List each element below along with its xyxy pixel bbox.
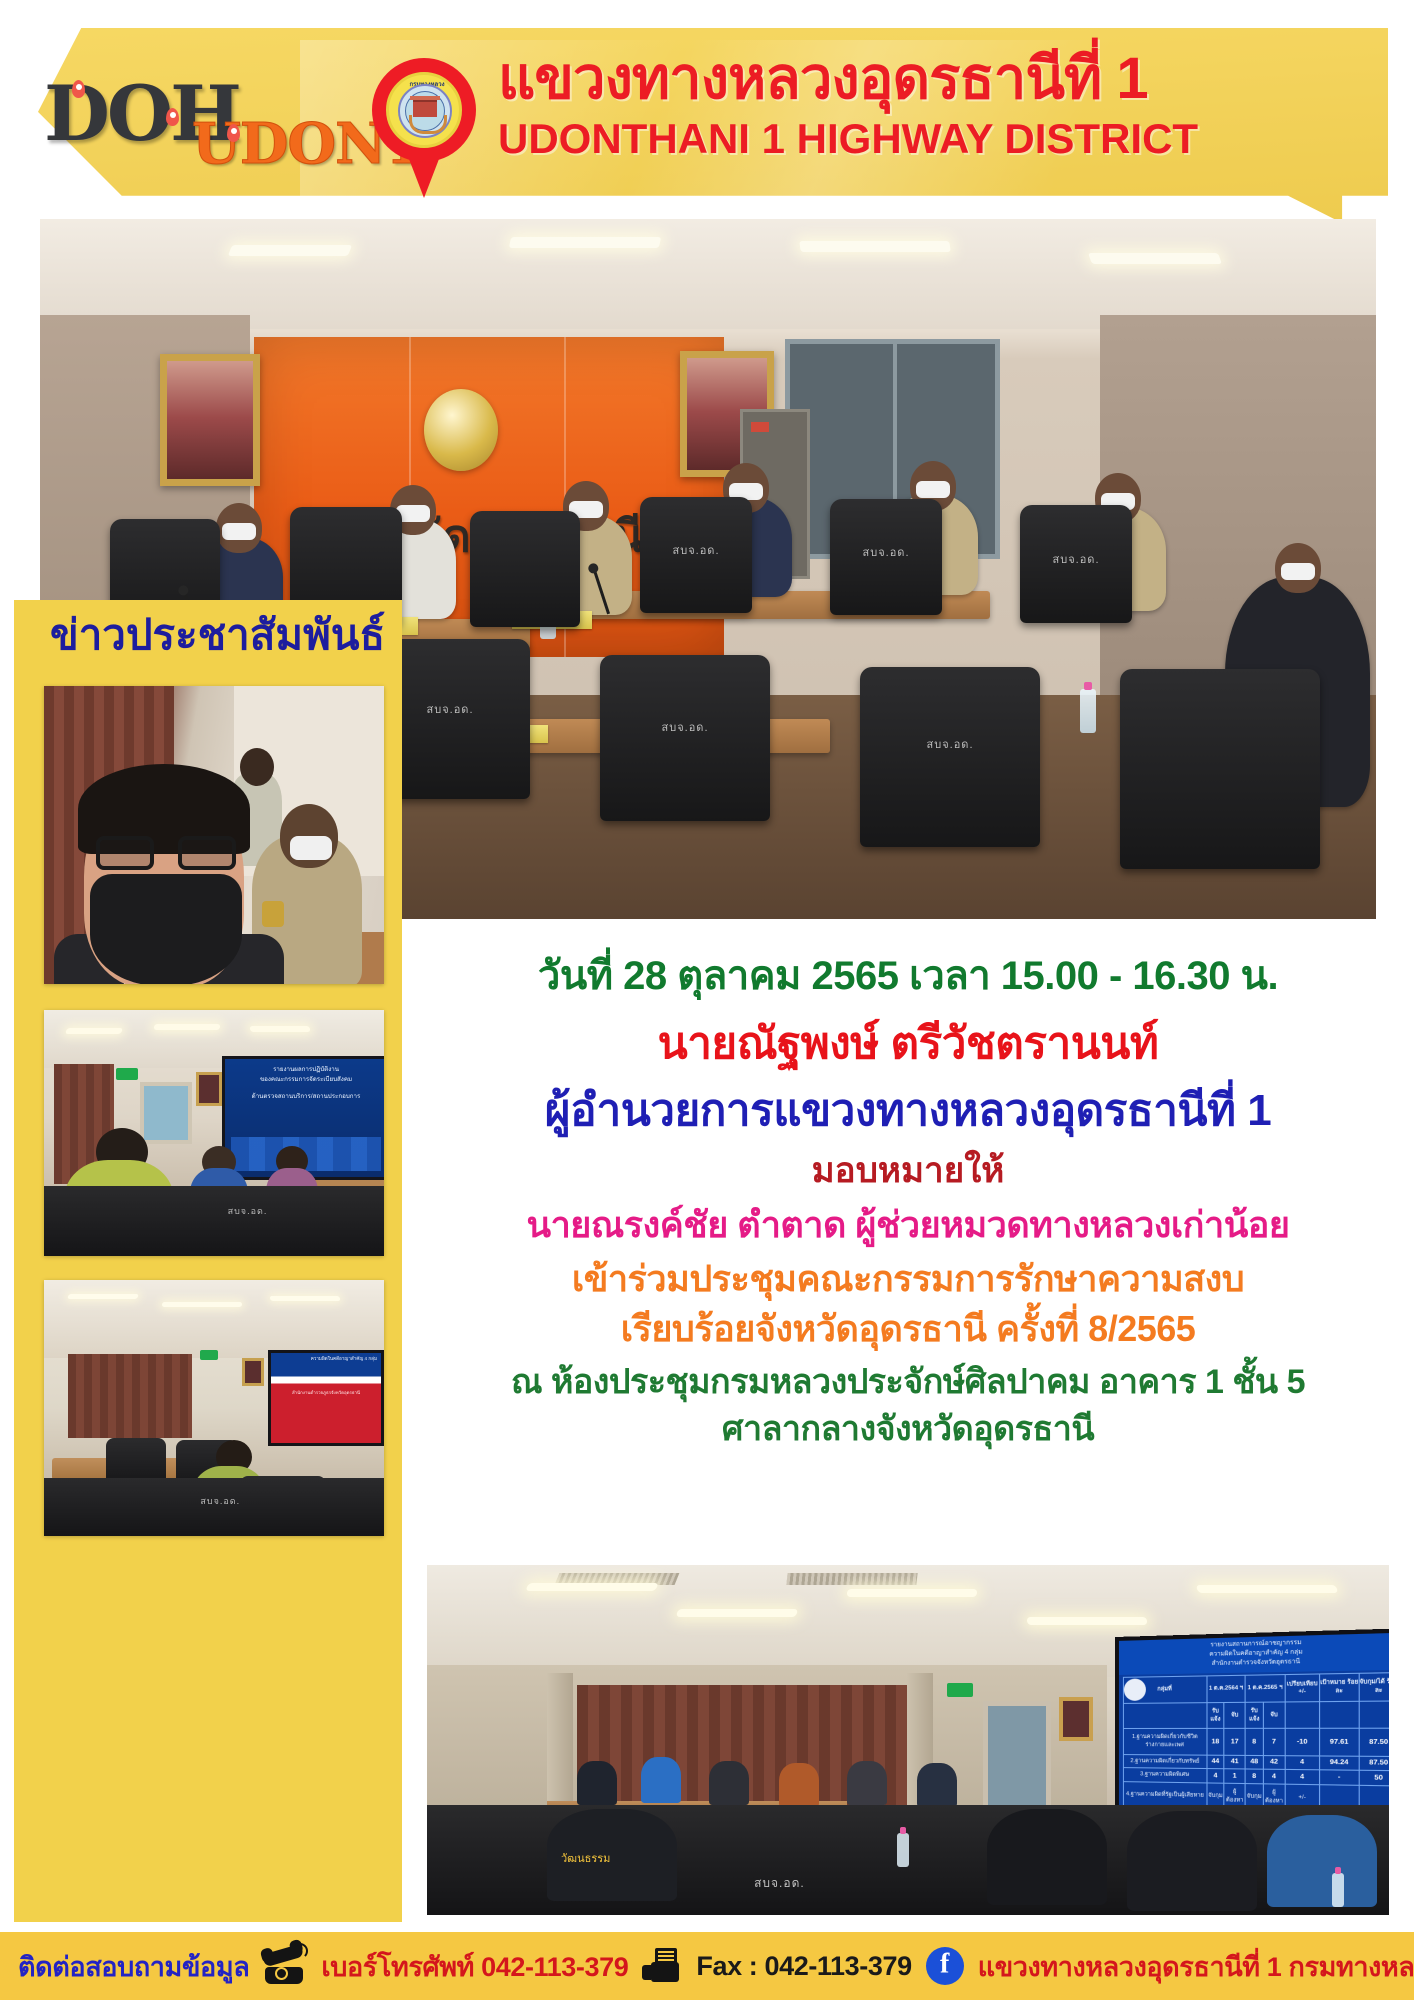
col-group: จับกุม/ได้ ร้อยละ: [1359, 1673, 1389, 1701]
ceiling-lamp: [154, 1024, 221, 1030]
table-header-row: กลุ่มที่ 1 ต.ค.2564 ฯ 1 ต.ค.2565 ฯ เปรีย…: [1123, 1673, 1389, 1703]
seal-naga-icon: [409, 115, 447, 134]
cell: 7: [1263, 1728, 1285, 1755]
office-chair: [470, 511, 580, 627]
col-group: 1 ต.ค.2565 ฯ: [1245, 1675, 1285, 1702]
cell: 4: [1285, 1755, 1320, 1770]
header-title-english: UDONTHANI 1 HIGHWAY DISTRICT: [498, 118, 1198, 160]
office-chair: สบจ.อด.: [830, 499, 942, 615]
water-bottle: [1332, 1873, 1344, 1907]
face-mask-icon: [916, 481, 950, 498]
header-title-thai: แขวงทางหลวงอุดรธานีที่ 1: [498, 50, 1148, 108]
row-label: 1.ฐานความผิดเกี่ยวกับชีวิต ร่างกายและเพศ: [1123, 1728, 1206, 1754]
officer-badge-icon: [262, 901, 284, 927]
cell: 48: [1245, 1755, 1263, 1769]
ceiling: [44, 1280, 384, 1358]
left-photo-column: รายงานผลการปฏิบัติงาน ของคณะกรรมการจัดระ…: [14, 664, 402, 1922]
chair-tag-text: สบจ.อด.: [926, 735, 973, 753]
exit-sign-icon: [947, 1683, 973, 1697]
crime-statistics-table: กลุ่มที่ 1 ต.ค.2564 ฯ 1 ต.ค.2565 ฯ เปรีย…: [1123, 1672, 1389, 1827]
presentation-screen-photo: รายงานผลการปฏิบัติงาน ของคณะกรรมการจัดระ…: [44, 1010, 384, 1256]
fax-icon: [642, 1946, 682, 1986]
attendee: [641, 1757, 681, 1803]
phone-ring-wave: [292, 1943, 308, 1959]
ceiling-lamp: [1027, 1617, 1148, 1625]
cell: 1: [1224, 1769, 1245, 1783]
screen-line-2: ของคณะกรรมการจัดระเบียบสังคม: [231, 1075, 381, 1085]
cell: 94.24: [1320, 1755, 1359, 1770]
announcement-panel: วันที่ 28 ตุลาคม 2565 เวลา 15.00 - 16.30…: [402, 920, 1414, 1560]
news-badge-label: ข่าวประชาสัมพันธ์: [50, 614, 385, 656]
sub-blank: [1359, 1700, 1389, 1728]
cell: 8: [1245, 1769, 1263, 1783]
conference-hall-screen-photo: รายงานสถานการณ์อาชญากรรม ความผิดในคดีอาญ…: [427, 1565, 1389, 1915]
attendee: [779, 1763, 819, 1807]
sub-blank: [1320, 1701, 1359, 1729]
delegate-name: นายณรงค์ชัย ตำตาด ผู้ช่วยหมวดทางหลวงเก่า…: [402, 1205, 1414, 1245]
sub-col: รับแจ้ง: [1245, 1702, 1263, 1729]
cell: 87.50: [1359, 1728, 1389, 1756]
attendee: [917, 1763, 957, 1807]
chair-row: [44, 1186, 384, 1256]
ceiling-lamp: [162, 1302, 242, 1307]
screen-body-text: สำนักงานตำรวจภูธรจังหวัดอุดรธานี: [275, 1389, 377, 1396]
office-chair: สบจ.อด.: [640, 497, 752, 613]
attendee: [709, 1761, 749, 1805]
attendee-head: [240, 748, 274, 786]
ceiling-vent: [786, 1573, 917, 1585]
cell: 97.61: [1320, 1728, 1359, 1755]
cell: -: [1320, 1770, 1359, 1785]
exit-sign-icon: [200, 1350, 218, 1360]
department-seal-icon: กรมทางหลวง: [386, 72, 462, 148]
cell: 87.50: [1359, 1756, 1389, 1771]
ceiling-lamp: [676, 1609, 798, 1617]
table-row: 1.ฐานความผิดเกี่ยวกับชีวิต ร่างกายและเพศ…: [1123, 1728, 1389, 1756]
portrait-image: [167, 361, 253, 479]
ceiling-lamp: [249, 1026, 310, 1032]
exit-sign-icon: [116, 1068, 138, 1080]
chair-tag-text: สบจ.อด.: [672, 541, 719, 559]
face-mask-icon: [90, 874, 242, 984]
royal-portrait-frame: [1059, 1697, 1093, 1741]
curtain: [68, 1354, 192, 1438]
facebook-icon[interactable]: [926, 1947, 964, 1985]
office-chair: สบจ.อด.: [600, 655, 770, 821]
col-group: กลุ่มที่: [1123, 1676, 1206, 1703]
ceiling-lamp: [1196, 1585, 1339, 1593]
hero-ceiling: [40, 219, 1376, 329]
attendee-foreground: [1127, 1811, 1257, 1911]
water-bottle: [897, 1833, 909, 1867]
eyeglasses-icon: [96, 836, 236, 870]
ceiling-lamp: [509, 237, 661, 248]
cell: 4: [1263, 1769, 1285, 1783]
office-chair: สบจ.อด.: [1020, 505, 1132, 623]
face-mask-icon: [1281, 563, 1315, 580]
screen-line-3: ด้านตรวจสถานบริการ/สถานประกอบการ: [231, 1092, 381, 1102]
cell: 17: [1224, 1728, 1245, 1755]
cell: 18: [1207, 1728, 1224, 1754]
face-mask-icon: [290, 836, 332, 860]
attendee-foreground: [1267, 1815, 1377, 1907]
face-mask-icon: [222, 523, 256, 540]
ceiling-lamp: [65, 1028, 123, 1034]
col-group: เปรียบเทียบ +/-: [1285, 1674, 1320, 1701]
venue-line-2: ศาลากลางจังหวัดอุดรธานี: [402, 1410, 1414, 1448]
royal-portrait-frame: [160, 354, 260, 486]
announcement-date: วันที่ 28 ตุลาคม 2565 เวลา 15.00 - 16.30…: [402, 954, 1414, 999]
cell: 44: [1207, 1755, 1224, 1769]
attendee-foreground: [987, 1809, 1107, 1905]
projection-screen: ความผิดในคดีอาญาสำคัญ 4 กลุ่ม สำนักงานตำ…: [268, 1350, 384, 1446]
ceiling-lamp: [228, 245, 352, 256]
map-pin-icon: [166, 108, 179, 126]
meeting-line-1: เข้าร่วมประชุมคณะกรรมการรักษาความสงบ: [402, 1259, 1414, 1299]
header-band: DOH UDON1 กรมทางหลวง แขวงทางหลวงอุดรธานี…: [0, 0, 1414, 250]
screen-line-1: รายงานผลการปฏิบัติงาน: [231, 1065, 381, 1075]
footer-bar: ติดต่อสอบถามข้อมูล เบอร์โทรศัพท์ 042-113…: [0, 1932, 1414, 2000]
ceiling-lamp: [67, 1294, 139, 1299]
ceiling-lamp: [799, 241, 951, 252]
office-chair: [1120, 669, 1320, 869]
venue-line-1: ณ ห้องประชุมกรมหลวงประจักษ์ศิลปาคม อาคาร…: [402, 1363, 1414, 1401]
row-label: 3.ฐานความผิดพิเศษ: [1123, 1768, 1206, 1783]
cell: 50: [1359, 1770, 1389, 1785]
cell: 42: [1263, 1755, 1285, 1769]
chair-row: [44, 1478, 384, 1536]
sub-col: จับ: [1224, 1702, 1245, 1729]
ceiling-lamp: [1088, 253, 1222, 264]
fax-side: [642, 1965, 651, 1980]
cell: 41: [1224, 1755, 1245, 1769]
chair-tag-text: สบจ.อด.: [661, 718, 708, 736]
doh-logo: DOH UDON1: [44, 72, 344, 182]
assignment-word: มอบหมายให้: [402, 1151, 1414, 1190]
fax-body: [651, 1962, 679, 1982]
selfie-meeting-photo: [44, 686, 384, 984]
ceiling-lamp: [269, 1296, 340, 1301]
cell: 4: [1285, 1769, 1320, 1784]
provincial-emblem-icon: [424, 389, 498, 471]
sub-blank: [1285, 1701, 1320, 1728]
royal-portrait-frame: [242, 1358, 264, 1386]
row-label: 2.ฐานความผิดเกี่ยวกับทรัพย์: [1123, 1754, 1206, 1768]
footer-content: ติดต่อสอบถามข้อมูล เบอร์โทรศัพท์ 042-113…: [0, 1945, 1414, 1988]
phone-icon: [263, 1946, 307, 1986]
attendee: [847, 1761, 887, 1805]
office-chair: สบจ.อด.: [860, 667, 1040, 847]
chair-tag-text: สบจ.อด.: [426, 700, 473, 718]
attendee-foreground: [547, 1809, 677, 1901]
meeting-line-2: เรียบร้อยจังหวัดอุดรธานี ครั้งที่ 8/2565: [402, 1309, 1414, 1349]
footer-contact-label: ติดต่อสอบถามข้อมูล: [18, 1945, 249, 1988]
col-group: 1 ต.ค.2564 ฯ: [1207, 1675, 1246, 1702]
screen-header-text: ความผิดในคดีอาญาสำคัญ 4 กลุ่ม: [275, 1356, 377, 1363]
attendee: [577, 1761, 617, 1805]
water-bottle: [1080, 689, 1096, 733]
royal-portrait-frame: [196, 1072, 222, 1106]
map-pin-icon: [227, 124, 240, 142]
footer-phone-label[interactable]: เบอร์โทรศัพท์ 042-113-379: [321, 1945, 628, 1988]
footer-fax-label: Fax : 042-113-379: [696, 1951, 911, 1982]
cell: 8: [1245, 1728, 1263, 1755]
director-role: ผู้อำนวยการแขวงทางหลวงอุดรธานีที่ 1: [402, 1086, 1414, 1135]
footer-facebook-label[interactable]: แขวงทางหลวงอุดรธานีที่ 1 กรมทางหลวง: [978, 1945, 1414, 1988]
right-photo-wrap: รายงานสถานการณ์อาชญากรรม ความผิดในคดีอาญ…: [402, 1555, 1414, 1923]
poster-root: DOH UDON1 กรมทางหลวง แขวงทางหลวงอุดรธานี…: [0, 0, 1414, 2000]
news-badge: ข่าวประชาสัมพันธ์: [14, 600, 402, 670]
screen-title: รายงานสถานการณ์อาชญากรรม ความผิดในคดีอาญ…: [1119, 1633, 1389, 1675]
cell: 4: [1207, 1769, 1224, 1783]
meeting-room-wide-photo: ความผิดในคดีอาญาสำคัญ 4 กลุ่ม สำนักงานตำ…: [44, 1280, 384, 1536]
map-pin-icon: [72, 80, 85, 98]
sub-col: รับแจ้ง: [1207, 1702, 1224, 1728]
ceiling-lamp: [847, 1589, 978, 1597]
sub-col: จับ: [1263, 1701, 1285, 1728]
cell: -10: [1285, 1728, 1320, 1755]
location-marker-icon: กรมทางหลวง: [372, 58, 476, 198]
window: [140, 1082, 192, 1144]
chair-tag-text: สบจ.อด.: [862, 543, 909, 561]
chair-tag-text: สบจ.อด.: [1052, 550, 1099, 568]
ceiling-lamp: [525, 1583, 659, 1591]
director-name: นายณัฐพงษ์ ตรีวัชตรานนท์: [402, 1019, 1414, 1068]
table-subheader-row: รับแจ้ง จับ รับแจ้ง จับ: [1123, 1700, 1389, 1728]
col-group: เป้าหมาย ร้อยละ: [1320, 1673, 1359, 1701]
sub-blank: [1123, 1702, 1206, 1728]
